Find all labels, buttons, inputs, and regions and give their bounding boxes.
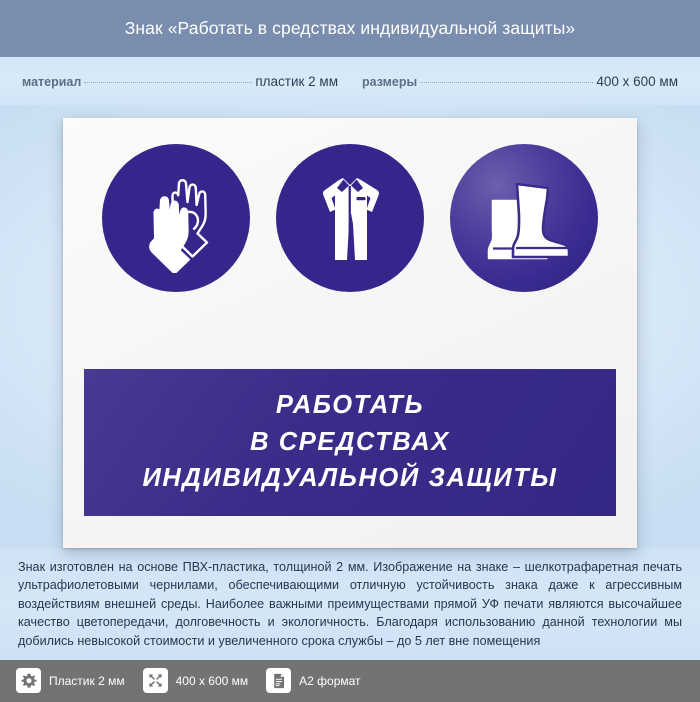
spec-leader xyxy=(420,82,593,83)
sign-text-line-1: РАБОТАТЬ xyxy=(94,387,606,423)
footer-bar: Пластик 2 мм xyxy=(0,660,700,702)
spec-item-dimensions: размеры 400 x 600 мм xyxy=(362,74,678,89)
document-icon xyxy=(266,668,291,693)
spec-bar: материал пластик 2 мм размеры 400 x 600 … xyxy=(0,57,700,105)
protective-gloves-icon xyxy=(102,144,250,292)
gear-icon xyxy=(16,668,41,693)
sign-image[interactable]: РАБОТАТЬ В СРЕДСТВАХ ИНДИВИДУАЛЬНОЙ ЗАЩИ… xyxy=(63,118,637,548)
sign-preview-area: РАБОТАТЬ В СРЕДСТВАХ ИНДИВИДУАЛЬНОЙ ЗАЩИ… xyxy=(0,105,700,548)
footer-item-format[interactable]: A2 формат xyxy=(266,668,360,693)
spec-item-material: материал пластик 2 мм xyxy=(22,74,338,89)
spec-value-dimensions: 400 x 600 мм xyxy=(596,74,678,89)
footer-label-format: A2 формат xyxy=(299,674,360,688)
description-section: Знак изготовлен на основе ПВХ-пластика, … xyxy=(0,548,700,660)
spec-label-material: материал xyxy=(22,75,81,89)
spec-label-dimensions: размеры xyxy=(362,75,417,89)
footer-label-material: Пластик 2 мм xyxy=(49,674,125,688)
footer-label-dimensions: 400 x 600 мм xyxy=(176,674,249,688)
sign-text-line-3: ИНДИВИДУАЛЬНОЙ ЗАЩИТЫ xyxy=(94,460,606,496)
page-title: Знак «Работать в средствах индивидуально… xyxy=(125,18,576,39)
product-card-page: Знак «Работать в средствах индивидуально… xyxy=(0,0,700,700)
sign-text-line-2: В СРЕДСТВАХ xyxy=(94,424,606,460)
page-header: Знак «Работать в средствах индивидуально… xyxy=(0,0,700,57)
spec-leader xyxy=(84,82,252,83)
resize-arrows-icon xyxy=(143,668,168,693)
description-text: Знак изготовлен на основе ПВХ-пластика, … xyxy=(18,558,682,650)
protective-coveralls-icon xyxy=(276,144,424,292)
protective-boots-icon xyxy=(450,144,598,292)
footer-item-dimensions[interactable]: 400 x 600 мм xyxy=(143,668,249,693)
pictogram-row xyxy=(63,118,637,292)
sign-text-banner: РАБОТАТЬ В СРЕДСТВАХ ИНДИВИДУАЛЬНОЙ ЗАЩИ… xyxy=(84,369,616,516)
footer-item-material[interactable]: Пластик 2 мм xyxy=(16,668,125,693)
spec-value-material: пластик 2 мм xyxy=(255,74,338,89)
